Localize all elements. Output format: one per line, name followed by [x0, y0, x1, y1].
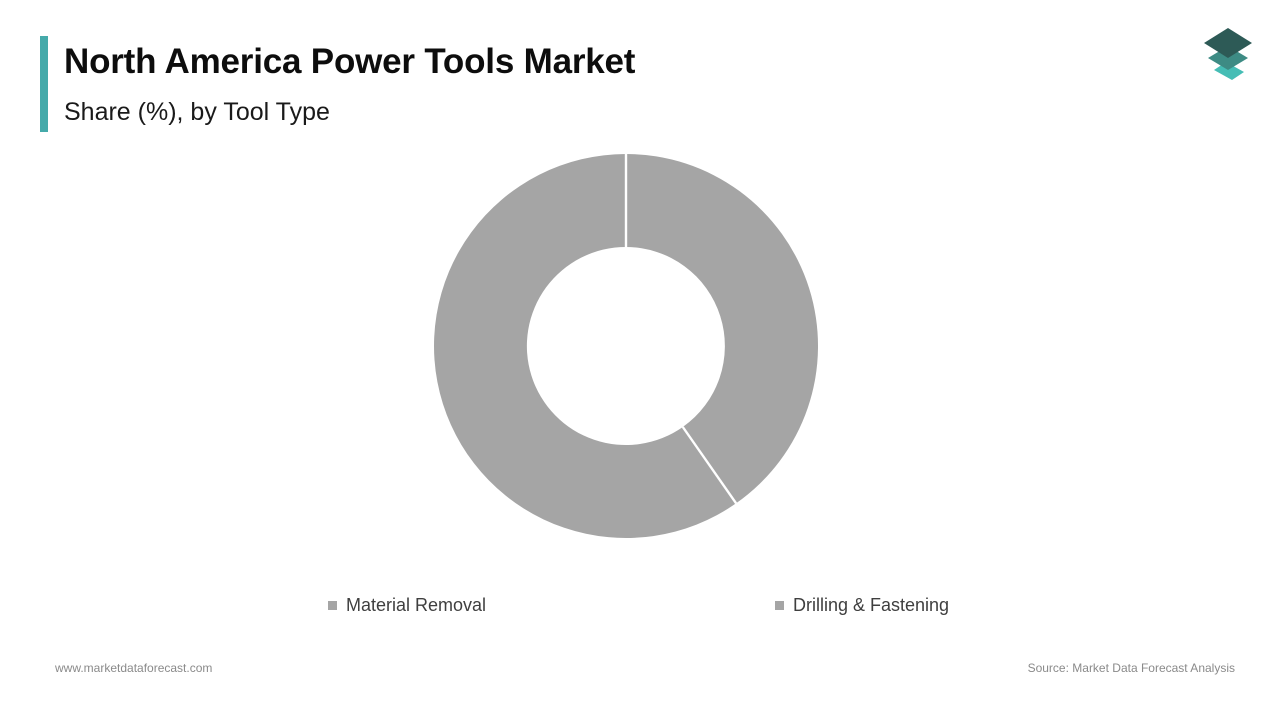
footer: www.marketdataforecast.com Source: Marke… — [0, 655, 1280, 691]
logo-layer-top — [1204, 28, 1252, 58]
legend-item-drilling-fastening[interactable]: Drilling & Fastening — [775, 592, 949, 618]
header: North America Power Tools Market Share (… — [0, 0, 1280, 145]
legend-item-label: Material Removal — [346, 594, 486, 616]
chart-legend: Material Removal Drilling & Fastening — [0, 592, 1280, 620]
legend-marker-icon — [775, 601, 784, 610]
footer-source: Source: Market Data Forecast Analysis — [1028, 660, 1235, 676]
legend-marker-icon — [328, 601, 337, 610]
stacked-layers-logo — [1194, 22, 1258, 88]
page-title: North America Power Tools Market — [64, 41, 635, 83]
legend-item-label: Drilling & Fastening — [793, 594, 949, 616]
donut-chart — [0, 145, 1280, 555]
stacked-layers-logo-icon — [1194, 22, 1258, 88]
title-accent-bar — [40, 36, 48, 132]
donut-chart-svg — [414, 145, 838, 549]
footer-website[interactable]: www.marketdataforecast.com — [55, 660, 212, 676]
page-subtitle: Share (%), by Tool Type — [64, 97, 330, 127]
legend-item-material-removal[interactable]: Material Removal — [328, 592, 486, 618]
